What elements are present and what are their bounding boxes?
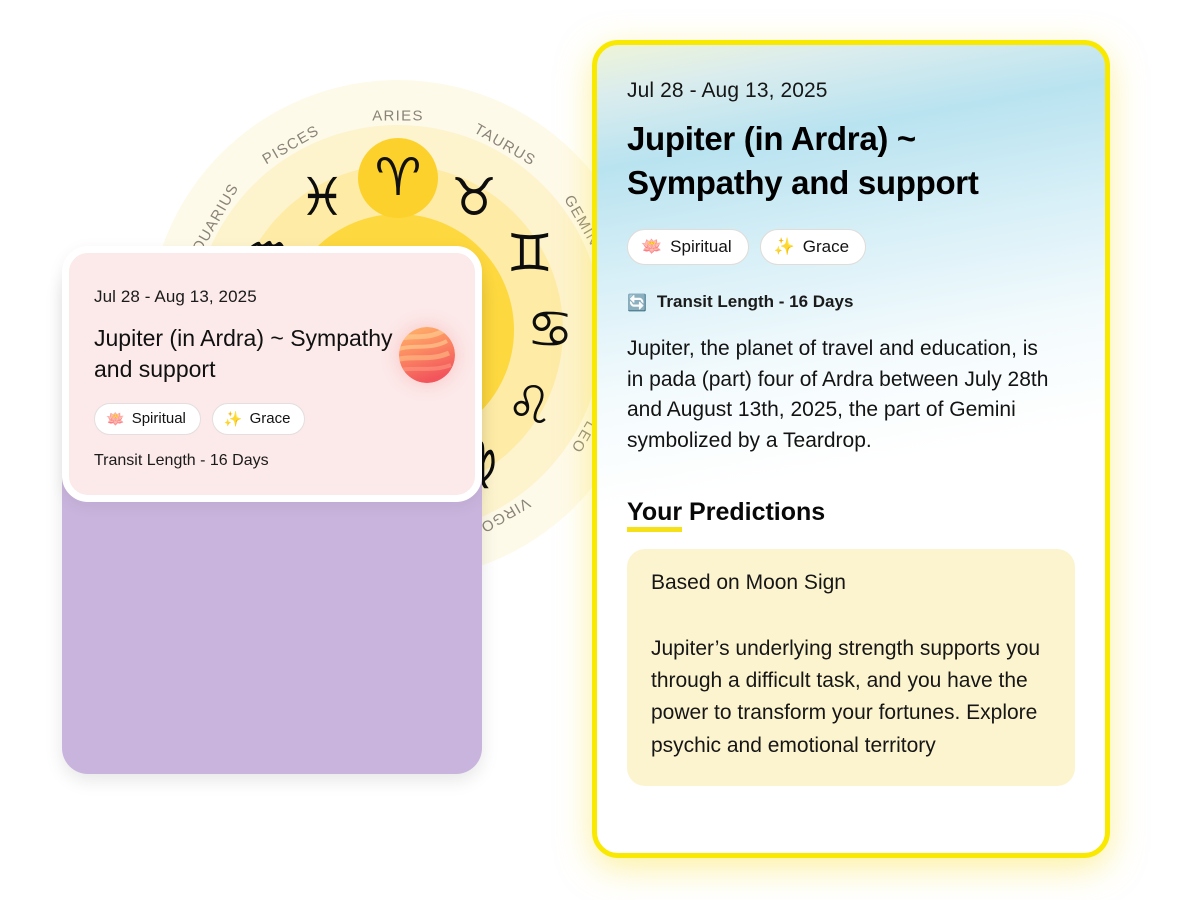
preview-tag-spiritual[interactable]: 🪷 Spiritual — [94, 403, 201, 435]
sparkles-icon: ✨ — [774, 237, 795, 257]
predictions-heading-rest: Predictions — [682, 498, 825, 526]
prediction-basis-label: Based on Moon Sign — [651, 571, 1051, 595]
zodiac-glyph-text: ♌ — [506, 380, 553, 432]
preview-tag-label: Grace — [250, 410, 291, 427]
detail-tag-list: 🪷 Spiritual ✨ Grace — [627, 229, 1075, 265]
preview-title: Jupiter (in Ardra) ~ Sympathy and suppor… — [94, 323, 394, 386]
detail-body-text: Jupiter, the planet of travel and educat… — [627, 334, 1057, 456]
predictions-heading-highlight: Your — [627, 498, 682, 532]
detail-transit-label: Transit Length - 16 Days — [657, 292, 854, 312]
preview-transit-length: Transit Length - 16 Days — [94, 452, 447, 470]
detail-tag-label: Grace — [803, 237, 849, 257]
zodiac-glyph-text: ♓ — [299, 172, 346, 224]
preview-card[interactable]: Jul 28 - Aug 13, 2025 Jupiter (in Ardra)… — [62, 246, 482, 502]
detail-tag-grace[interactable]: ✨ Grace — [760, 229, 866, 265]
preview-tag-list: 🪷 Spiritual ✨ Grace — [94, 403, 447, 435]
detail-tag-spiritual[interactable]: 🪷 Spiritual — [627, 229, 749, 265]
refresh-cycle-icon: 🔄 — [627, 293, 647, 312]
preview-tag-grace[interactable]: ✨ Grace — [212, 403, 306, 435]
detail-tag-label: Spiritual — [670, 237, 731, 257]
preview-date-range: Jul 28 - Aug 13, 2025 — [94, 287, 447, 307]
preview-card-stack[interactable]: Jul 28 - Aug 13, 2025 Jupiter (in Ardra)… — [62, 246, 482, 526]
zodiac-glyph-text: ♊ — [506, 228, 553, 280]
zodiac-glyph-text: ♋ — [527, 304, 574, 356]
lotus-icon: 🪷 — [641, 237, 662, 257]
prediction-text: Jupiter’s underlying strength supports y… — [651, 633, 1051, 762]
preview-tag-label: Spiritual — [132, 410, 186, 427]
detail-date-range: Jul 28 - Aug 13, 2025 — [627, 79, 1075, 103]
zodiac-label-text: ARIES — [372, 108, 424, 125]
detail-title: Jupiter (in Ardra) ~ Sympathy and suppor… — [627, 117, 1067, 205]
predictions-section-heading: Your Predictions — [627, 498, 1075, 527]
prediction-box: Based on Moon Sign Jupiter’s underlying … — [627, 549, 1075, 786]
sparkles-icon: ✨ — [224, 410, 243, 428]
zodiac-glyph-text: ♉ — [451, 172, 498, 224]
detail-card[interactable]: Jul 28 - Aug 13, 2025 Jupiter (in Ardra)… — [592, 40, 1110, 858]
zodiac-glyph-text: ♈ — [375, 152, 422, 204]
lotus-icon: 🪷 — [106, 410, 125, 428]
jupiter-planet-icon — [399, 327, 455, 383]
detail-transit-row: 🔄 Transit Length - 16 Days — [627, 292, 1075, 312]
